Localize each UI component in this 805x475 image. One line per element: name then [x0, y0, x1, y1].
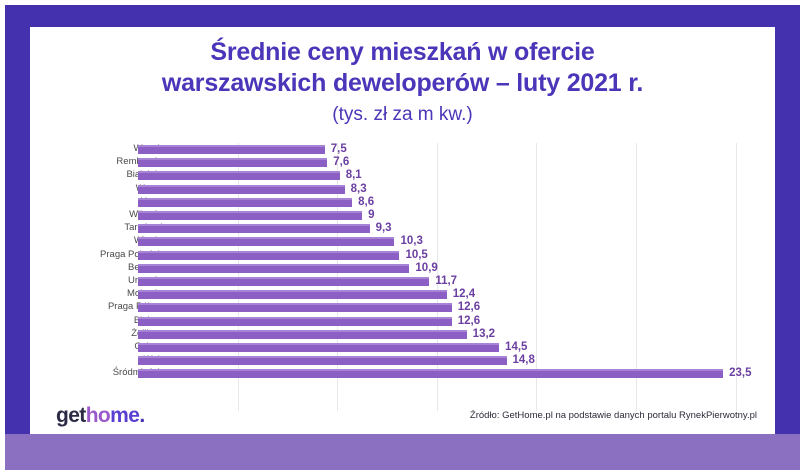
bar[interactable]: [138, 211, 362, 220]
bar-value-label: 10,3: [400, 235, 422, 248]
chart-header: Średnie ceny mieszkań w ofercie warszaws…: [30, 27, 775, 128]
bar-value-label: 7,6: [333, 156, 349, 169]
bar-value-label: 13,2: [473, 328, 495, 341]
bar-value-label: 9: [368, 209, 374, 222]
bar[interactable]: [138, 369, 723, 378]
bar-value-label: 12,6: [458, 301, 480, 314]
bar[interactable]: [138, 171, 340, 180]
bar[interactable]: [138, 264, 409, 273]
chart-subtitle: (tys. zł za m kw.): [30, 102, 775, 128]
bar[interactable]: [138, 277, 429, 286]
bar[interactable]: [138, 251, 399, 260]
bar-value-label: 12,4: [453, 288, 475, 301]
bar-value-label: 7,5: [331, 143, 347, 156]
plot-area: 7,57,68,18,38,699,310,310,510,911,712,41…: [138, 143, 775, 411]
bar[interactable]: [138, 356, 507, 365]
chart-footer: gethome. Źródło: GetHome.pl na podstawie…: [30, 398, 775, 434]
source-attribution: Źródło: GetHome.pl na podstawie danych p…: [470, 410, 757, 422]
bar-value-label: 10,9: [415, 262, 437, 275]
bar-chart: WesołaRembertówBiałołękaWawerUrsusWilanó…: [30, 143, 775, 411]
bar-value-label: 8,6: [358, 196, 374, 209]
logo-part-me: me: [110, 404, 139, 427]
bar-value-label: 8,3: [351, 183, 367, 196]
screenshot-frame: Średnie ceny mieszkań w ofercie warszaws…: [0, 0, 805, 475]
bar[interactable]: [138, 145, 325, 154]
bar[interactable]: [138, 198, 352, 207]
bar[interactable]: [138, 237, 394, 246]
bar[interactable]: [138, 330, 467, 339]
purple-panel: Średnie ceny mieszkań w ofercie warszaws…: [5, 5, 800, 470]
bar-value-label: 8,1: [346, 169, 362, 182]
chart-card: Średnie ceny mieszkań w ofercie warszaws…: [30, 27, 775, 434]
bar[interactable]: [138, 158, 327, 167]
panel-bottom-band: [5, 434, 800, 470]
bar[interactable]: [138, 185, 345, 194]
chart-title-line-2: warszawskich deweloperów – luty 2021 r.: [30, 68, 775, 99]
chart-title-line-1: Średnie ceny mieszkań w ofercie: [30, 37, 775, 68]
bar-value-label: 23,5: [729, 367, 751, 380]
bar[interactable]: [138, 343, 499, 352]
logo-part-ho: ho: [86, 404, 110, 427]
bar-value-label: 11,7: [435, 275, 457, 288]
logo-part-dot: .: [139, 404, 144, 427]
bar[interactable]: [138, 317, 452, 326]
logo-part-get: get: [56, 404, 86, 427]
bar[interactable]: [138, 303, 452, 312]
bar[interactable]: [138, 290, 447, 299]
bar[interactable]: [138, 224, 370, 233]
gethome-logo[interactable]: gethome.: [56, 404, 145, 428]
bar-value-label: 12,6: [458, 315, 480, 328]
bar-value-label: 10,5: [405, 249, 427, 262]
bar-value-label: 9,3: [376, 222, 392, 235]
bar-value-label: 14,8: [513, 354, 535, 367]
bar-value-label: 14,5: [505, 341, 527, 354]
